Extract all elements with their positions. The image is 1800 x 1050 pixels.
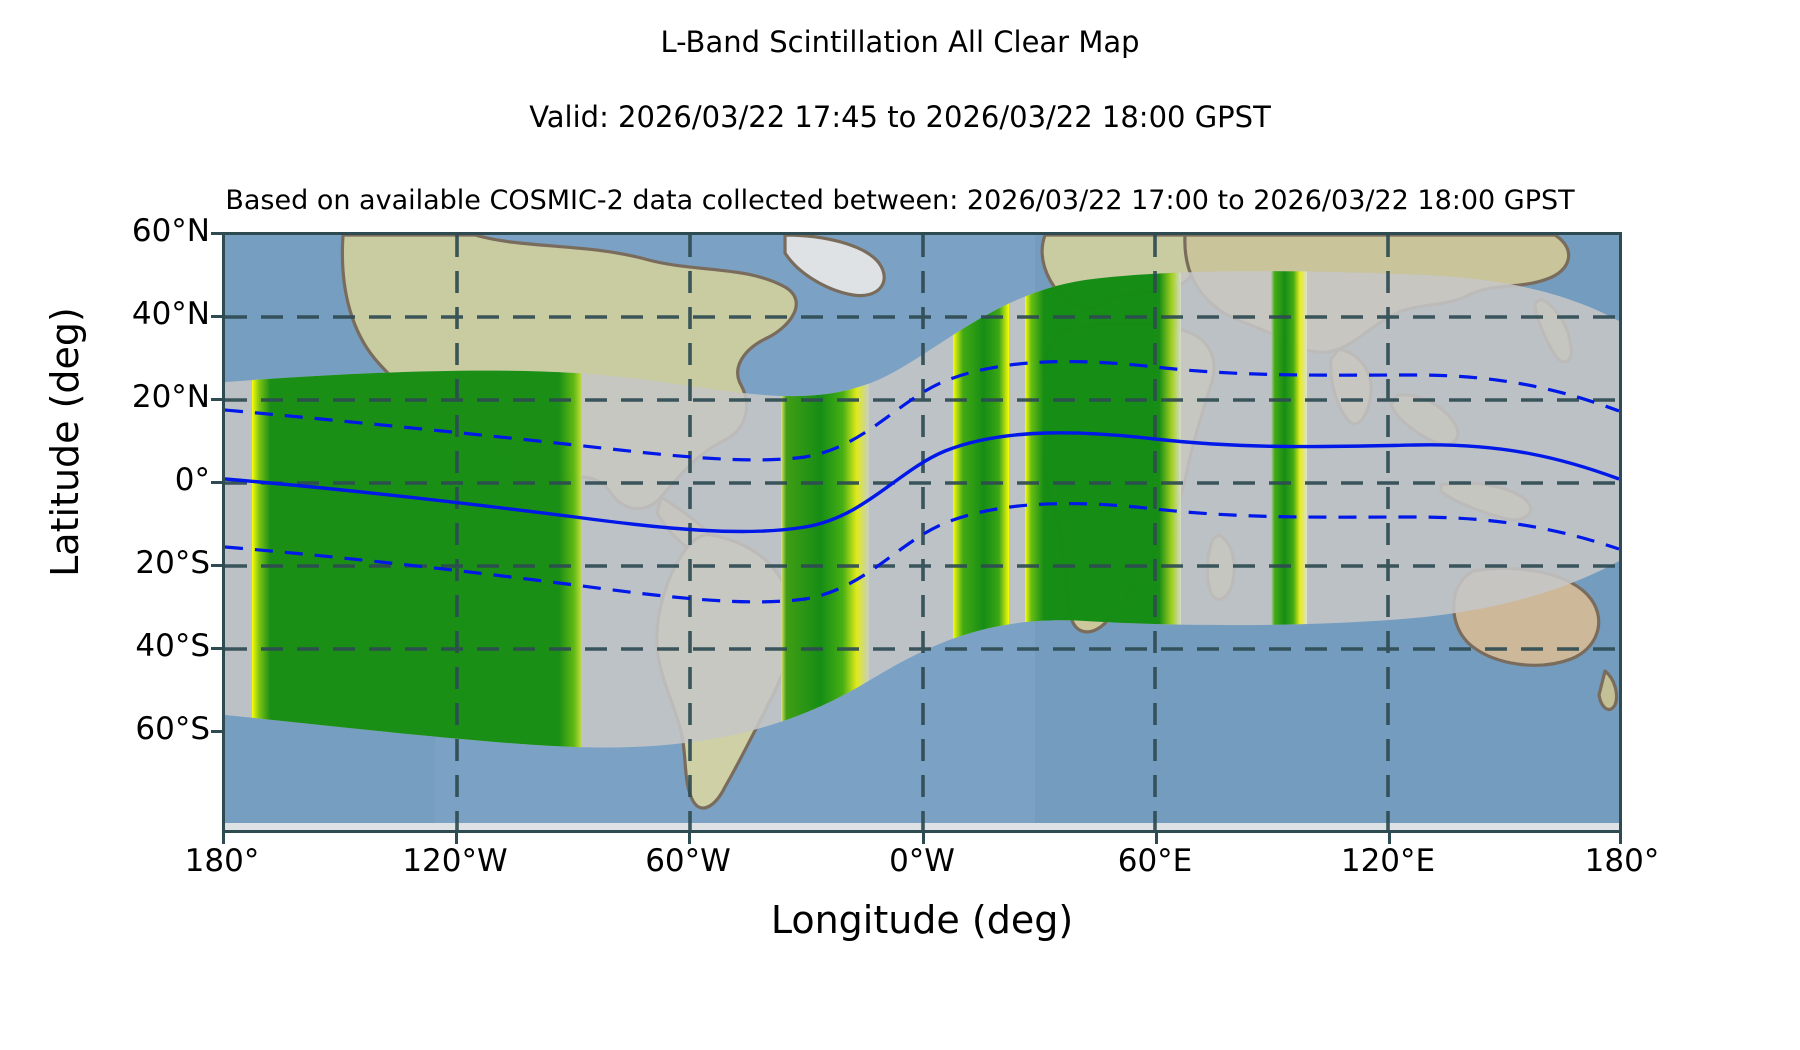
validity-subtitle: Valid: 2026/03/22 17:45 to 2026/03/22 18…: [0, 100, 1800, 134]
y-tick-label-60S: 60°S: [30, 714, 210, 745]
x-tick-label-60W: 60°W: [578, 843, 798, 879]
y-tick-mark-40N: [211, 315, 222, 318]
x-axis-label: Longitude (deg): [222, 898, 1622, 942]
x-tick-mark-0: [922, 833, 925, 844]
y-tick-label-60N: 60°N: [30, 216, 210, 247]
x-tick-mark-120E: [1388, 833, 1391, 844]
x-tick-mark-180E: [1619, 833, 1622, 844]
y-tick-mark-20S: [211, 564, 222, 567]
map-plot-area[interactable]: Map valid for 1500 MHz Probably Clear > …: [222, 232, 1622, 833]
y-tick-mark-40S: [211, 647, 222, 650]
x-tick-mark-60W: [688, 833, 691, 844]
x-tick-label-120E: 120°E: [1278, 843, 1498, 879]
y-tick-mark-60N: [211, 232, 222, 235]
x-tick-label-180W: 180°: [112, 843, 332, 879]
data-source-subtitle: Based on available COSMIC-2 data collect…: [0, 185, 1800, 216]
y-tick-label-20S: 20°S: [30, 548, 210, 579]
x-tick-mark-60E: [1155, 833, 1158, 844]
y-tick-mark-60S: [211, 730, 222, 733]
y-tick-mark-20N: [211, 398, 222, 401]
y-tick-label-20N: 20°N: [30, 382, 210, 413]
x-tick-label-0: 0°W: [812, 843, 1032, 879]
y-tick-label-40S: 40°S: [30, 631, 210, 662]
scintillation-map-page: L-Band Scintillation All Clear Map Valid…: [0, 0, 1800, 1050]
x-tick-label-60E: 60°E: [1045, 843, 1265, 879]
y-tick-mark-0: [211, 481, 222, 484]
x-tick-mark-120W: [455, 833, 458, 844]
x-tick-label-180E: 180°: [1512, 843, 1732, 879]
x-tick-label-120W: 120°W: [345, 843, 565, 879]
world-map-svg: [225, 235, 1619, 830]
page-title: L-Band Scintillation All Clear Map: [0, 25, 1800, 59]
y-tick-label-40N: 40°N: [30, 299, 210, 330]
y-tick-label-0: 0°: [30, 465, 210, 496]
x-tick-mark-180W: [222, 833, 225, 844]
